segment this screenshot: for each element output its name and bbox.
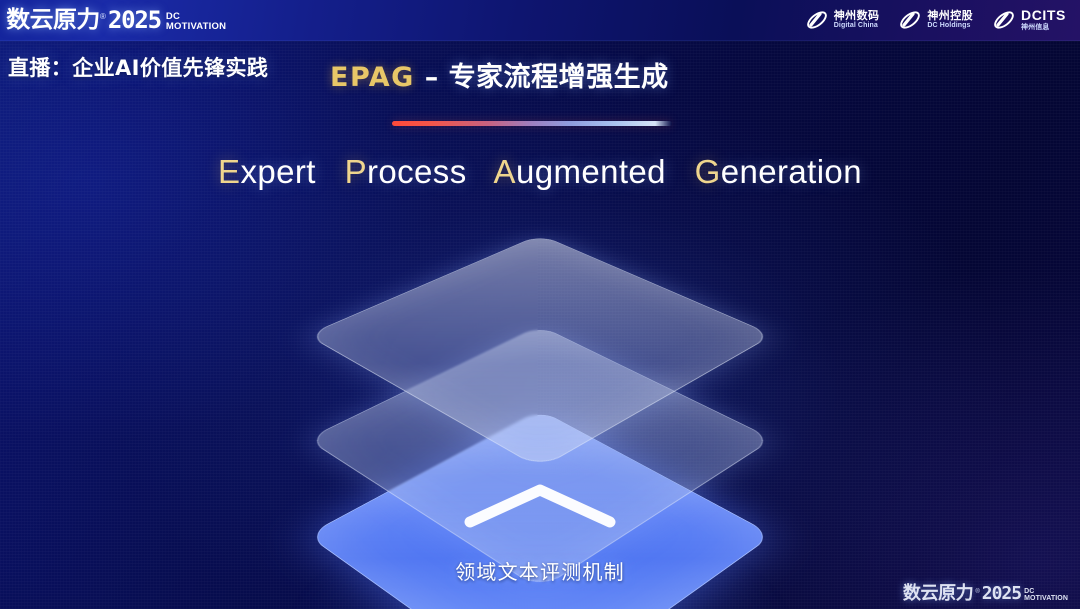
logo-label-cn: 神州控股 [927, 10, 973, 22]
chevron-up-icon [460, 480, 620, 532]
logo-label-cn: DCITS [1021, 8, 1066, 24]
page-title: EPAG – 专家流程增强生成 [330, 55, 669, 94]
partner-logos: 神州数码 Digital China 神州控股 DC Holdings [805, 8, 1070, 32]
swirl-logo-icon [992, 8, 1016, 32]
swirl-logo-icon [898, 8, 922, 32]
watermark-registered-mark: ® [975, 589, 979, 595]
logo-digital-china: 神州数码 Digital China [805, 8, 880, 32]
logo-label-en: 神州信息 [1021, 24, 1066, 32]
brand-registered-mark: ® [100, 13, 106, 21]
title-dash: – [415, 62, 449, 93]
layer-plate-top [307, 234, 774, 468]
gradient-divider [392, 121, 672, 126]
watermark-dc-line1: DC [1024, 588, 1068, 595]
logo-label-en: DC Holdings [927, 22, 973, 30]
layered-architecture-diagram: 领域文本评测机制 Dynamic MOE 长文本记忆 三类语义建模模块 [238, 218, 842, 578]
brand-year: 2025 [108, 8, 161, 32]
english-word-1: Expert [218, 153, 316, 190]
slide-canvas: 数云原力 ® 2025 DC MOTIVATION 神州数码 Digital C… [0, 0, 1080, 609]
watermark-chinese-name: 数云原力 [903, 585, 973, 603]
swirl-logo-icon [805, 8, 829, 32]
logo-dcits: DCITS 神州信息 [992, 8, 1066, 32]
layer-label-top: 领域文本评测机制 [455, 556, 625, 585]
english-word-3: Augmented [494, 153, 666, 190]
title-chinese: 专家流程增强生成 [449, 62, 669, 93]
title-acronym: EPAG [330, 62, 415, 93]
logo-dc-holdings: 神州控股 DC Holdings [898, 8, 973, 32]
top-banner: 数云原力 ® 2025 DC MOTIVATION 神州数码 Digital C… [0, 0, 1080, 41]
footer-watermark: 数云原力 ® 2025 DC MOTIVATION [903, 585, 1068, 603]
logo-label-cn: 神州数码 [834, 10, 880, 22]
brand-chinese-name: 数云原力 [6, 9, 100, 32]
english-word-2: Process [345, 153, 467, 190]
brand-dc-line2: MOTIVATION [166, 22, 226, 32]
brand-lockup: 数云原力 ® 2025 DC MOTIVATION [8, 8, 226, 32]
brand-dc-motivation: DC MOTIVATION [166, 12, 226, 31]
watermark-dc-motivation: DC MOTIVATION [1024, 588, 1068, 602]
logo-label-en: Digital China [834, 22, 880, 30]
watermark-year: 2025 [982, 585, 1021, 603]
broadcast-subtitle: 直播：企业AI价值先锋实践 [8, 52, 268, 82]
watermark-dc-line2: MOTIVATION [1024, 595, 1068, 602]
english-word-4: Generation [695, 153, 862, 190]
english-title: Expert Process Augmented Generation [0, 153, 1080, 191]
